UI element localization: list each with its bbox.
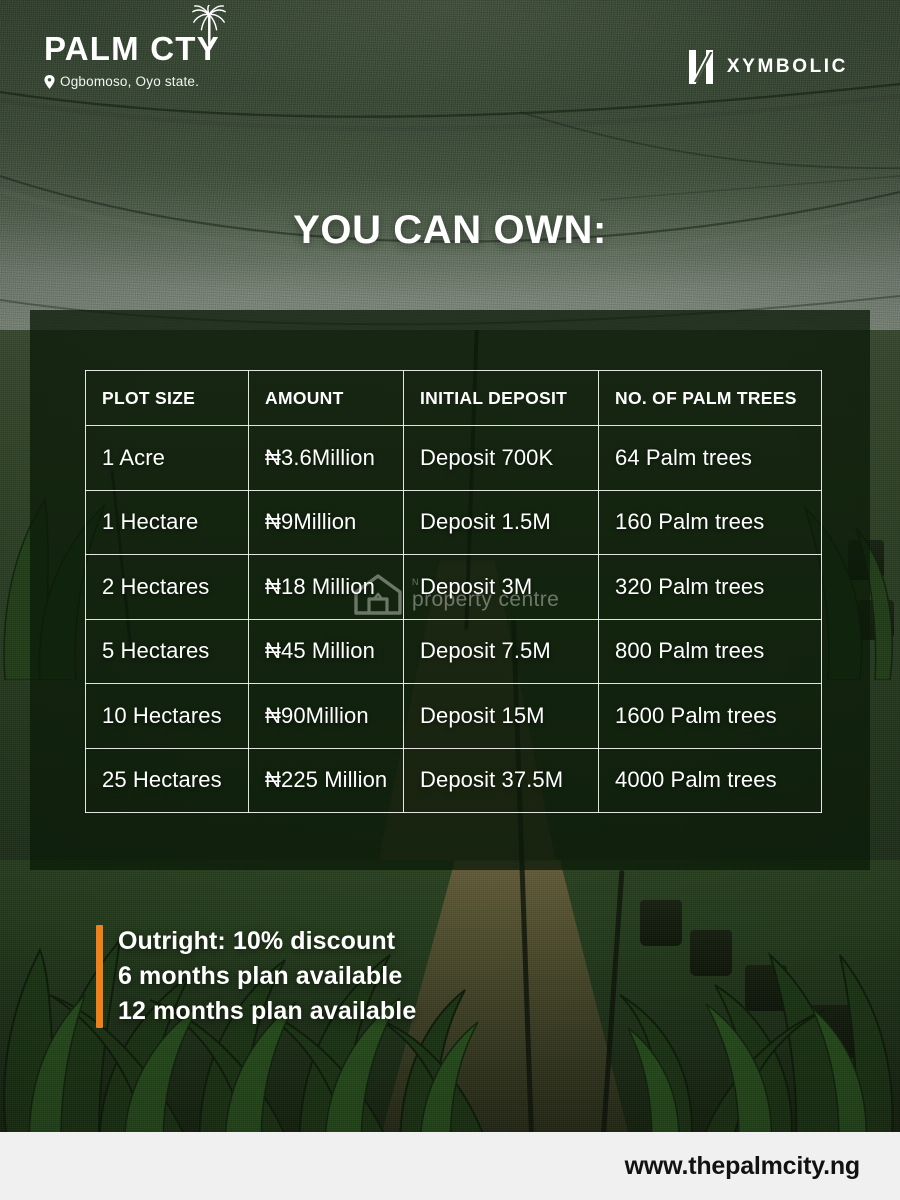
cell-plot-size: 1 Acre [86, 426, 249, 491]
brand-name-part-1: PALM C [44, 30, 175, 67]
cell-amount: ₦9Million [249, 490, 404, 555]
cell-plot-size: 10 Hectares [86, 684, 249, 749]
table-row: 25 Hectares ₦225 Million Deposit 37.5M 4… [86, 748, 822, 813]
cell-palm-trees: 800 Palm trees [599, 619, 822, 684]
table-header-row: PLOT SIZE AMOUNT INITIAL DEPOSIT NO. OF … [86, 371, 822, 426]
cell-deposit: Deposit 1.5M [404, 490, 599, 555]
footer-bar: www.thepalmcity.ng [0, 1132, 900, 1200]
column-header-initial-deposit: INITIAL DEPOSIT [404, 371, 599, 426]
cell-amount: ₦45 Million [249, 619, 404, 684]
cell-deposit: Deposit 7.5M [404, 619, 599, 684]
cell-plot-size: 2 Hectares [86, 555, 249, 620]
cell-amount: ₦3.6Million [249, 426, 404, 491]
footer-website-url[interactable]: www.thepalmcity.ng [625, 1152, 860, 1181]
cell-palm-trees: 320 Palm trees [599, 555, 822, 620]
offers-block: Outright: 10% discount 6 months plan ava… [96, 925, 416, 1028]
pricing-table-wrapper: PLOT SIZE AMOUNT INITIAL DEPOSIT NO. OF … [85, 370, 821, 812]
poster-canvas: PALM CTY Ogb [0, 0, 900, 1200]
offer-line-6-months: 6 months plan available [118, 960, 416, 993]
xymbolic-monogram-icon [689, 50, 715, 84]
offers-list: Outright: 10% discount 6 months plan ava… [118, 925, 416, 1028]
cell-palm-trees: 160 Palm trees [599, 490, 822, 555]
cell-amount: ₦90Million [249, 684, 404, 749]
cell-deposit: Deposit 37.5M [404, 748, 599, 813]
table-row: 1 Hectare ₦9Million Deposit 1.5M 160 Pal… [86, 490, 822, 555]
table-row: 2 Hectares ₦18 Million Deposit 3M 320 Pa… [86, 555, 822, 620]
cell-deposit: Deposit 3M [404, 555, 599, 620]
cell-plot-size: 1 Hectare [86, 490, 249, 555]
cell-plot-size: 25 Hectares [86, 748, 249, 813]
brand-logo: PALM CTY Ogb [44, 32, 304, 89]
cell-palm-trees: 4000 Palm trees [599, 748, 822, 813]
cell-palm-trees: 1600 Palm trees [599, 684, 822, 749]
table-row: 5 Hectares ₦45 Million Deposit 7.5M 800 … [86, 619, 822, 684]
cell-deposit: Deposit 15M [404, 684, 599, 749]
brand-name: PALM CTY [44, 32, 304, 65]
offer-line-12-months: 12 months plan available [118, 995, 416, 1028]
cell-plot-size: 5 Hectares [86, 619, 249, 684]
column-header-plot-size: PLOT SIZE [86, 371, 249, 426]
cell-deposit: Deposit 700K [404, 426, 599, 491]
column-header-amount: AMOUNT [249, 371, 404, 426]
cell-amount: ₦225 Million [249, 748, 404, 813]
offers-accent-bar [96, 925, 103, 1028]
palm-tree-icon [190, 5, 228, 45]
offer-line-outright: Outright: 10% discount [118, 925, 416, 958]
location-pin-icon [44, 75, 55, 89]
cell-palm-trees: 64 Palm trees [599, 426, 822, 491]
pricing-table: PLOT SIZE AMOUNT INITIAL DEPOSIT NO. OF … [85, 370, 822, 813]
cell-amount: ₦18 Million [249, 555, 404, 620]
table-row: 1 Acre ₦3.6Million Deposit 700K 64 Palm … [86, 426, 822, 491]
brand-location: Ogbomoso, Oyo state. [44, 74, 304, 89]
partner-name: XYMBOLIC [727, 56, 848, 78]
page-title: YOU CAN OWN: [0, 208, 900, 253]
column-header-palm-trees: NO. OF PALM TREES [599, 371, 822, 426]
table-row: 10 Hectares ₦90Million Deposit 15M 1600 … [86, 684, 822, 749]
brand-location-text: Ogbomoso, Oyo state. [60, 74, 199, 89]
partner-logo: XYMBOLIC [689, 50, 848, 84]
